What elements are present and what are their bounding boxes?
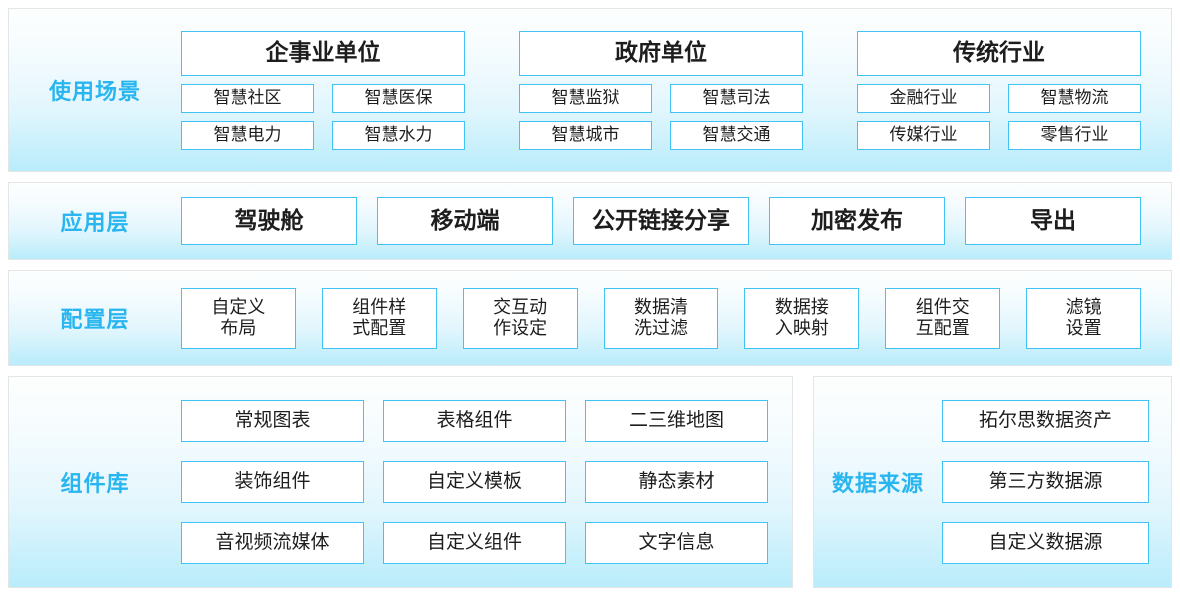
data-source-item[interactable]: 第三方数据源	[942, 461, 1149, 503]
scene-item[interactable]: 智慧交通	[670, 121, 803, 150]
component-item-grid: 常规图表 表格组件 二三维地图 装饰组件 自定义模板 静态素材 音视频流媒体 自…	[181, 400, 792, 564]
application-item[interactable]: 公开链接分享	[573, 197, 749, 245]
scene-item[interactable]: 智慧物流	[1008, 84, 1141, 113]
scene-item[interactable]: 智慧司法	[670, 84, 803, 113]
component-item[interactable]: 二三维地图	[585, 400, 768, 442]
configuration-item-list: 自定义 布局 组件样 式配置 交互动 作设定 数据清 洗过滤 数据接 入映射 组…	[181, 288, 1171, 349]
scene-group-title[interactable]: 政府单位	[519, 31, 803, 76]
scene-group-title[interactable]: 企事业单位	[181, 31, 465, 76]
application-layer-label: 应用层	[9, 205, 181, 237]
data-source-item-list: 拓尔思数据资产 第三方数据源 自定义数据源	[942, 400, 1171, 564]
configuration-layer-panel: 配置层 自定义 布局 组件样 式配置 交互动 作设定 数据清 洗过滤 数据接 入…	[8, 270, 1172, 366]
scene-item[interactable]: 零售行业	[1008, 121, 1141, 150]
application-layer-panel: 应用层 驾驶舱 移动端 公开链接分享 加密发布 导出	[8, 182, 1172, 260]
scenes-panel: 使用场景 企事业单位 智慧社区 智慧医保 智慧电力 智慧水力 政府单位 智慧监狱…	[8, 8, 1172, 172]
scene-group-enterprise: 企事业单位 智慧社区 智慧医保 智慧电力 智慧水力	[181, 31, 465, 150]
component-item[interactable]: 音视频流媒体	[181, 522, 364, 564]
component-item[interactable]: 表格组件	[383, 400, 566, 442]
application-item-list: 驾驶舱 移动端 公开链接分享 加密发布 导出	[181, 197, 1171, 245]
configuration-item[interactable]: 组件交 互配置	[885, 288, 1000, 349]
scenes-group-list: 企事业单位 智慧社区 智慧医保 智慧电力 智慧水力 政府单位 智慧监狱 智慧司法…	[181, 31, 1171, 150]
application-item[interactable]: 移动端	[377, 197, 553, 245]
scene-item-grid: 智慧监狱 智慧司法 智慧城市 智慧交通	[519, 84, 803, 150]
application-item[interactable]: 驾驶舱	[181, 197, 357, 245]
scene-item[interactable]: 传媒行业	[857, 121, 990, 150]
component-item[interactable]: 静态素材	[585, 461, 768, 503]
data-source-item[interactable]: 拓尔思数据资产	[942, 400, 1149, 442]
architecture-diagram: 使用场景 企事业单位 智慧社区 智慧医保 智慧电力 智慧水力 政府单位 智慧监狱…	[0, 0, 1180, 598]
configuration-item[interactable]: 滤镜 设置	[1026, 288, 1141, 349]
component-library-label: 组件库	[9, 466, 181, 498]
data-source-label: 数据来源	[814, 466, 942, 498]
scene-item-grid: 金融行业 智慧物流 传媒行业 零售行业	[857, 84, 1141, 150]
scene-item[interactable]: 智慧医保	[332, 84, 465, 113]
application-item[interactable]: 导出	[965, 197, 1141, 245]
application-item[interactable]: 加密发布	[769, 197, 945, 245]
configuration-layer-label: 配置层	[9, 302, 181, 334]
scene-item[interactable]: 智慧水力	[332, 121, 465, 150]
scene-item[interactable]: 金融行业	[857, 84, 990, 113]
component-item[interactable]: 自定义组件	[383, 522, 566, 564]
scene-group-government: 政府单位 智慧监狱 智慧司法 智慧城市 智慧交通	[519, 31, 803, 150]
configuration-item[interactable]: 自定义 布局	[181, 288, 296, 349]
scene-item[interactable]: 智慧社区	[181, 84, 314, 113]
configuration-item[interactable]: 组件样 式配置	[322, 288, 437, 349]
component-item[interactable]: 自定义模板	[383, 461, 566, 503]
scene-item[interactable]: 智慧监狱	[519, 84, 652, 113]
bottom-row: 组件库 常规图表 表格组件 二三维地图 装饰组件 自定义模板 静态素材 音视频流…	[8, 376, 1172, 588]
scene-item-grid: 智慧社区 智慧医保 智慧电力 智慧水力	[181, 84, 465, 150]
component-item[interactable]: 文字信息	[585, 522, 768, 564]
configuration-item[interactable]: 数据清 洗过滤	[604, 288, 719, 349]
component-item[interactable]: 常规图表	[181, 400, 364, 442]
configuration-item[interactable]: 数据接 入映射	[744, 288, 859, 349]
component-library-panel: 组件库 常规图表 表格组件 二三维地图 装饰组件 自定义模板 静态素材 音视频流…	[8, 376, 793, 588]
scene-group-title[interactable]: 传统行业	[857, 31, 1141, 76]
scene-item[interactable]: 智慧城市	[519, 121, 652, 150]
data-source-item[interactable]: 自定义数据源	[942, 522, 1149, 564]
data-source-panel: 数据来源 拓尔思数据资产 第三方数据源 自定义数据源	[813, 376, 1172, 588]
component-item[interactable]: 装饰组件	[181, 461, 364, 503]
scene-item[interactable]: 智慧电力	[181, 121, 314, 150]
scene-group-traditional: 传统行业 金融行业 智慧物流 传媒行业 零售行业	[857, 31, 1141, 150]
scenes-panel-label: 使用场景	[9, 74, 181, 106]
configuration-item[interactable]: 交互动 作设定	[463, 288, 578, 349]
